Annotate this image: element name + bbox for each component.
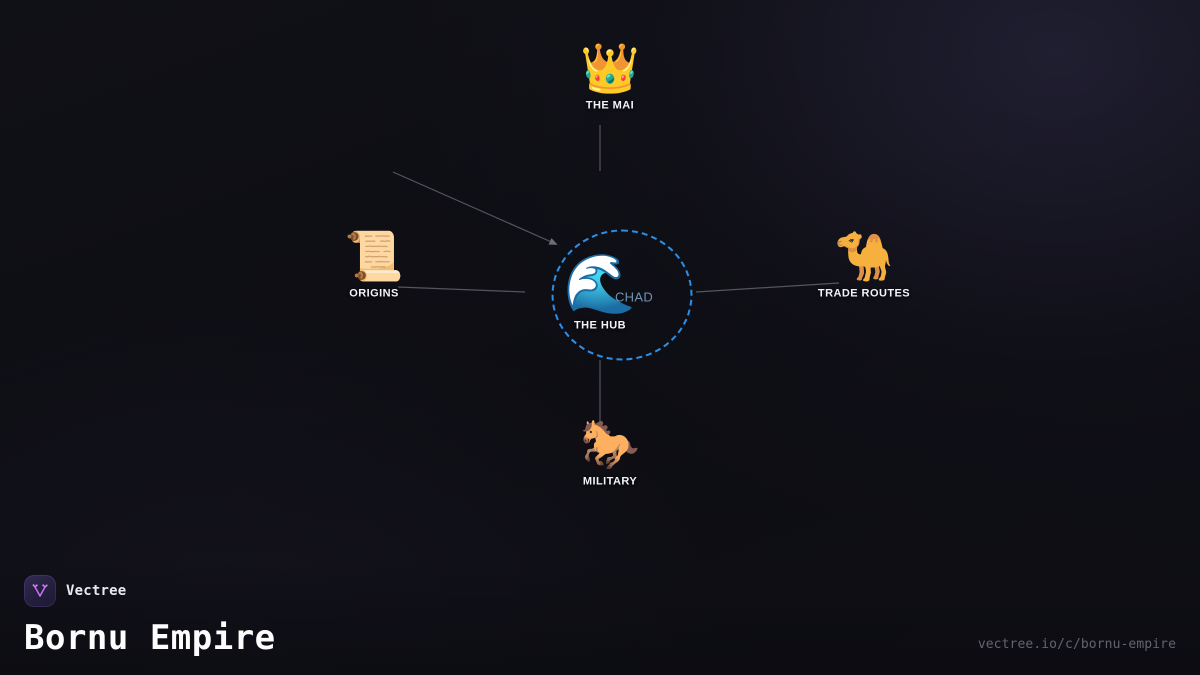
brand-name: Vectree (66, 583, 126, 599)
graph-edge (393, 172, 556, 244)
graph-node-military[interactable]: 🐎MILITARY (580, 421, 640, 488)
scroll-emoji: 📜 (344, 233, 404, 281)
page-title: Bornu Empire (24, 621, 276, 657)
graph-node-trade-routes[interactable]: 🐪TRADE ROUTES (818, 233, 910, 300)
graph-node-the-mai[interactable]: 👑THE MAI (580, 45, 640, 112)
title-row: Bornu Empire vectree.io/c/bornu-empire (24, 621, 1176, 657)
crown-emoji: 👑 (580, 45, 640, 93)
graph-node-origins[interactable]: 📜ORIGINS (344, 233, 404, 300)
hub-tag-label: CHAD (615, 290, 653, 305)
horse-emoji: 🐎 (580, 421, 640, 469)
app-root: 👑THE MAI📜ORIGINS🐪TRADE ROUTES🐎MILITARY🌊T… (0, 0, 1200, 675)
graph-node-label: ORIGINS (349, 288, 399, 300)
camel-emoji: 🐪 (834, 233, 894, 281)
graph-node-label: THE HUB (574, 320, 626, 332)
graph-node-label: TRADE ROUTES (818, 288, 910, 300)
page-url: vectree.io/c/bornu-empire (978, 637, 1176, 657)
vectree-logo-glyph (31, 582, 49, 600)
footer-bar: Vectree Bornu Empire vectree.io/c/bornu-… (0, 560, 1200, 675)
vectree-logo-icon (24, 575, 56, 607)
brand-row: Vectree (24, 575, 1176, 607)
graph-edge (398, 287, 525, 292)
graph-node-label: THE MAI (586, 100, 634, 112)
graph-node-label: MILITARY (583, 476, 637, 488)
